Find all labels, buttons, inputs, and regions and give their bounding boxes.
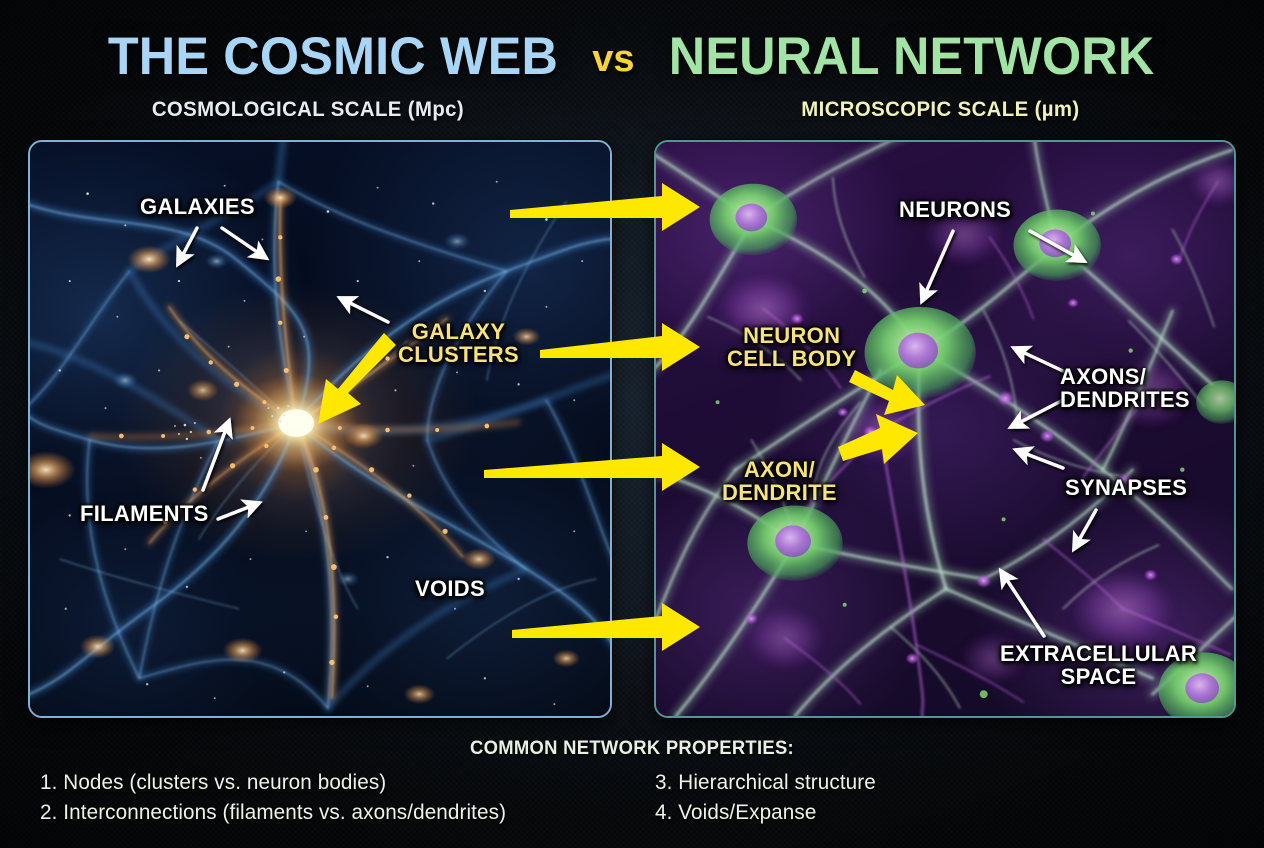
label-axon-dendrite: AXON/ DENDRITE — [722, 459, 837, 505]
title-row: THE COSMIC WEB vs NEURAL NETWORK — [0, 30, 1264, 84]
label-synapses: SYNAPSES — [1065, 477, 1187, 500]
infographic-canvas: THE COSMIC WEB vs NEURAL NETWORK COSMOLO… — [0, 0, 1264, 848]
list-item: 2. Interconnections (filaments vs. axons… — [40, 798, 646, 828]
subtitle-cosmological-scale: COSMOLOGICAL SCALE (Mpc) — [152, 98, 464, 122]
page-title-left: THE COSMIC WEB — [108, 30, 558, 83]
footer-columns: 1. Nodes (clusters vs. neuron bodies) 2.… — [40, 768, 1230, 828]
vs-separator: vs — [592, 38, 634, 81]
cosmic-web-image — [30, 142, 610, 716]
footer-column-right: 3. Hierarchical structure 4. Voids/Expan… — [655, 768, 1230, 828]
label-galaxy-clusters: GALAXY CLUSTERS — [398, 321, 519, 367]
cosmic-web-filaments — [30, 142, 610, 716]
panel-neural-network[interactable] — [654, 140, 1236, 718]
footer: COMMON NETWORK PROPERTIES: 1. Nodes (clu… — [0, 726, 1264, 848]
label-axons-dendrites: AXONS/ DENDRITES — [1060, 366, 1190, 412]
neural-network-image — [656, 142, 1234, 716]
subtitle-left-wrap: COSMOLOGICAL SCALE (Mpc) — [0, 98, 616, 122]
subtitle-row: COSMOLOGICAL SCALE (Mpc) MICROSCOPIC SCA… — [0, 98, 1264, 122]
label-neuron-cell-body: NEURON CELL BODY — [727, 325, 856, 371]
label-galaxies: GALAXIES — [140, 196, 255, 219]
label-filaments: FILAMENTS — [80, 503, 209, 526]
subtitle-right-wrap: MICROSCOPIC SCALE (µm) — [616, 98, 1264, 122]
panel-cosmic-web[interactable] — [28, 140, 612, 718]
label-voids: VOIDS — [415, 578, 485, 601]
footer-column-left: 1. Nodes (clusters vs. neuron bodies) 2.… — [40, 768, 655, 828]
page-title-right: NEURAL NETWORK — [669, 30, 1155, 83]
label-extracellular-space: EXTRACELLULAR SPACE — [1000, 643, 1197, 689]
footer-heading: COMMON NETWORK PROPERTIES: — [19, 738, 1245, 760]
header: THE COSMIC WEB vs NEURAL NETWORK COSMOLO… — [0, 0, 1264, 136]
neuron-cells — [656, 142, 1234, 716]
subtitle-microscopic-scale: MICROSCOPIC SCALE (µm) — [801, 98, 1079, 122]
list-item: 4. Voids/Expanse — [655, 798, 1221, 828]
label-neurons: NEURONS — [899, 199, 1011, 222]
list-item: 3. Hierarchical structure — [655, 768, 1221, 798]
list-item: 1. Nodes (clusters vs. neuron bodies) — [40, 768, 646, 798]
